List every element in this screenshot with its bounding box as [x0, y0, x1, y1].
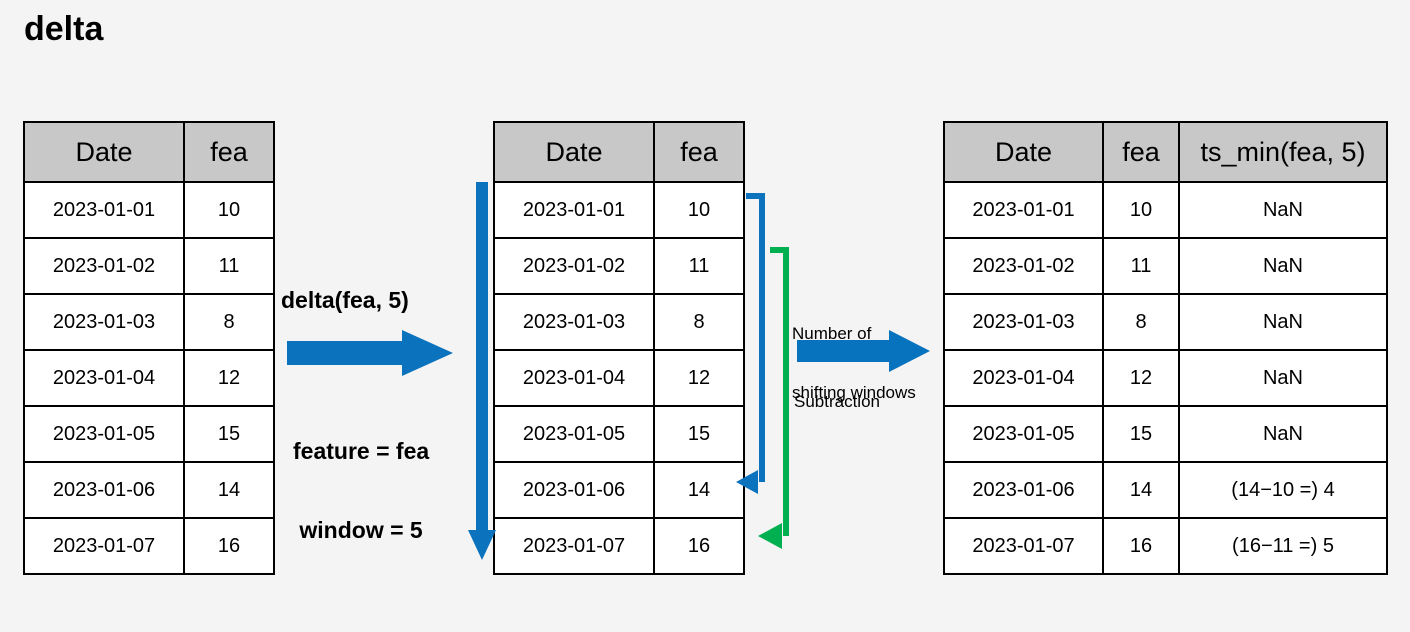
page-title: delta [24, 10, 103, 49]
cell-fea: 12 [654, 350, 744, 406]
cell-date: 2023-01-04 [944, 350, 1103, 406]
cell-date: 2023-01-06 [944, 462, 1103, 518]
shift-brackets-group [736, 182, 800, 562]
cell-fea: 15 [1103, 406, 1179, 462]
cell-fea: 16 [1103, 518, 1179, 574]
cell-fea: 10 [1103, 182, 1179, 238]
cell-fea: 15 [654, 406, 744, 462]
cell-ts-min: (16−11 =) 5 [1179, 518, 1387, 574]
cell-ts-min: NaN [1179, 350, 1387, 406]
cell-date: 2023-01-05 [494, 406, 654, 462]
table-row: 2023-01-038 [24, 294, 274, 350]
cell-fea: 10 [184, 182, 274, 238]
column-header-date: Date [24, 122, 184, 182]
table-row: 2023-01-0412 [494, 350, 744, 406]
table-row: 2023-01-0211 [24, 238, 274, 294]
cell-fea: 12 [184, 350, 274, 406]
cell-fea: 11 [654, 238, 744, 294]
diagram-canvas: delta Date fea 2023-01-01102023-01-02112… [0, 0, 1410, 632]
column-header-fea: fea [1103, 122, 1179, 182]
table-row: 2023-01-0614 [494, 462, 744, 518]
cell-date: 2023-01-07 [24, 518, 184, 574]
cell-date: 2023-01-01 [24, 182, 184, 238]
cell-fea: 10 [654, 182, 744, 238]
cell-fea: 14 [184, 462, 274, 518]
table-row: 2023-01-0716 [24, 518, 274, 574]
table-row: 2023-01-0515 [24, 406, 274, 462]
cell-date: 2023-01-03 [24, 294, 184, 350]
cell-date: 2023-01-02 [24, 238, 184, 294]
cell-fea: 16 [654, 518, 744, 574]
table-row: 2023-01-0412NaN [944, 350, 1387, 406]
cell-fea: 14 [654, 462, 744, 518]
cell-date: 2023-01-01 [944, 182, 1103, 238]
cell-ts-min: (14−10 =) 4 [1179, 462, 1387, 518]
source-table: Date fea 2023-01-01102023-01-02112023-01… [23, 121, 275, 575]
cell-fea: 12 [1103, 350, 1179, 406]
cell-fea: 8 [1103, 294, 1179, 350]
cell-fea: 14 [1103, 462, 1179, 518]
cell-date: 2023-01-06 [494, 462, 654, 518]
cell-date: 2023-01-07 [944, 518, 1103, 574]
table-row: 2023-01-0211 [494, 238, 744, 294]
subtraction-label: Subtraction [794, 392, 880, 412]
cell-date: 2023-01-02 [944, 238, 1103, 294]
cell-fea: 16 [184, 518, 274, 574]
column-header-fea: fea [184, 122, 274, 182]
right-arrow-icon [797, 330, 930, 372]
table-row: 2023-01-0515NaN [944, 406, 1387, 462]
cell-date: 2023-01-05 [944, 406, 1103, 462]
table-row: 2023-01-0515 [494, 406, 744, 462]
table-row: 2023-01-0412 [24, 350, 274, 406]
table-row: 2023-01-0110 [24, 182, 274, 238]
column-header-ts-min: ts_min(fea, 5) [1179, 122, 1387, 182]
shifted-table: Date fea 2023-01-01102023-01-02112023-01… [493, 121, 745, 575]
table-row: 2023-01-0110NaN [944, 182, 1387, 238]
cell-fea: 11 [1103, 238, 1179, 294]
delta-call-label: delta(fea, 5) [281, 287, 409, 313]
cell-date: 2023-01-07 [494, 518, 654, 574]
delta-param-feature: feature = fea [293, 438, 429, 464]
delta-param-window: window = 5 [293, 517, 429, 543]
column-header-date: Date [494, 122, 654, 182]
bracket-arrow-icon-blue [736, 196, 762, 494]
table-row: 2023-01-0716(16−11 =) 5 [944, 518, 1387, 574]
table-row: 2023-01-038 [494, 294, 744, 350]
table-row: 2023-01-0211NaN [944, 238, 1387, 294]
table-row: 2023-01-0716 [494, 518, 744, 574]
cell-date: 2023-01-03 [944, 294, 1103, 350]
table-row: 2023-01-0614(14−10 =) 4 [944, 462, 1387, 518]
table-header-row: Date fea [24, 122, 274, 182]
cell-ts-min: NaN [1179, 294, 1387, 350]
table-header-row: Date fea ts_min(fea, 5) [944, 122, 1387, 182]
table-row: 2023-01-0110 [494, 182, 744, 238]
result-table: Date fea ts_min(fea, 5) 2023-01-0110NaN2… [943, 121, 1388, 575]
down-arrow-icon [466, 182, 498, 562]
column-header-fea: fea [654, 122, 744, 182]
cell-date: 2023-01-05 [24, 406, 184, 462]
table-row: 2023-01-0614 [24, 462, 274, 518]
cell-date: 2023-01-04 [24, 350, 184, 406]
cell-ts-min: NaN [1179, 406, 1387, 462]
cell-date: 2023-01-04 [494, 350, 654, 406]
right-arrow-icon [287, 330, 453, 376]
cell-fea: 11 [184, 238, 274, 294]
cell-date: 2023-01-01 [494, 182, 654, 238]
table-header-row: Date fea [494, 122, 744, 182]
column-header-date: Date [944, 122, 1103, 182]
cell-fea: 15 [184, 406, 274, 462]
cell-ts-min: NaN [1179, 182, 1387, 238]
cell-date: 2023-01-03 [494, 294, 654, 350]
cell-date: 2023-01-06 [24, 462, 184, 518]
delta-params-label: feature = fea window = 5 [293, 385, 429, 597]
table-row: 2023-01-038NaN [944, 294, 1387, 350]
cell-date: 2023-01-02 [494, 238, 654, 294]
cell-fea: 8 [654, 294, 744, 350]
cell-fea: 8 [184, 294, 274, 350]
cell-ts-min: NaN [1179, 238, 1387, 294]
